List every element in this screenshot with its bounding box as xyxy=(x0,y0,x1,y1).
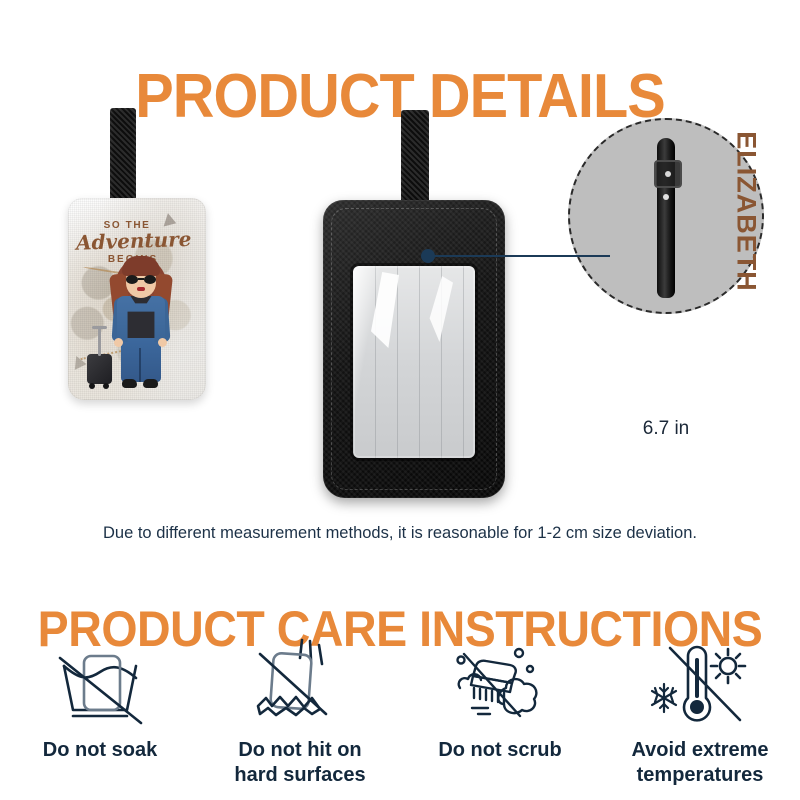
front-tag-strap xyxy=(110,108,136,208)
back-tag-strap xyxy=(401,110,429,210)
hand-left xyxy=(114,338,123,347)
hand-right xyxy=(158,338,167,347)
hair-top xyxy=(122,256,160,276)
suitcase-icon xyxy=(87,354,112,384)
shoe-right xyxy=(143,379,158,388)
paper-plane-icon xyxy=(75,356,87,371)
measurement-disclaimer: Due to different measurement methods, it… xyxy=(0,524,800,543)
id-card-window xyxy=(353,266,475,458)
no-scrub-icon xyxy=(440,636,560,732)
lips xyxy=(137,287,145,291)
care-label-no-impact: Do not hit on hard surfaces xyxy=(234,738,365,788)
suitcase-wheel xyxy=(89,383,95,389)
care-item-no-extreme-temp: Avoid extreme temperatures xyxy=(605,636,795,788)
window-glare xyxy=(427,276,453,342)
callout-anchor-dot xyxy=(421,249,435,263)
back-tag-face xyxy=(323,200,505,498)
buckle-icon xyxy=(654,160,682,188)
sunglass-lens-right xyxy=(144,275,156,284)
product-details-infographic: PRODUCT DETAILS SO THE Adventure BEGINS xyxy=(0,0,800,800)
no-extreme-temp-icon xyxy=(640,636,760,732)
sunglass-lens-left xyxy=(126,275,138,284)
strap-hole xyxy=(663,194,669,200)
sunglasses-icon xyxy=(126,275,156,284)
care-label-no-soak: Do not soak xyxy=(43,738,157,763)
care-item-no-impact: Do not hit on hard surfaces xyxy=(205,636,395,788)
care-label-no-extreme-temp: Avoid extreme temperatures xyxy=(631,738,768,788)
window-glare xyxy=(371,272,399,348)
suitcase-handle xyxy=(98,328,101,356)
care-instructions-row: Do not soak Do not hit on hard surfaces xyxy=(0,636,800,796)
character-illustration xyxy=(110,250,172,396)
leg-seam xyxy=(139,348,141,382)
product-images-area: SO THE Adventure BEGINS xyxy=(0,100,800,520)
size-measurement-label: 6.7 in xyxy=(568,418,764,440)
suitcase-wheel xyxy=(103,383,109,389)
no-impact-icon xyxy=(240,636,360,732)
care-label-no-scrub: Do not scrub xyxy=(438,738,561,763)
shoe-left xyxy=(122,379,137,388)
callout-leader-line xyxy=(428,255,610,257)
no-soak-icon xyxy=(40,636,160,732)
personalized-name-text: ELIZABETH xyxy=(731,112,762,312)
care-item-no-soak: Do not soak xyxy=(5,636,195,763)
care-item-no-scrub: Do not scrub xyxy=(405,636,595,763)
front-tag-face: SO THE Adventure BEGINS xyxy=(68,198,206,400)
